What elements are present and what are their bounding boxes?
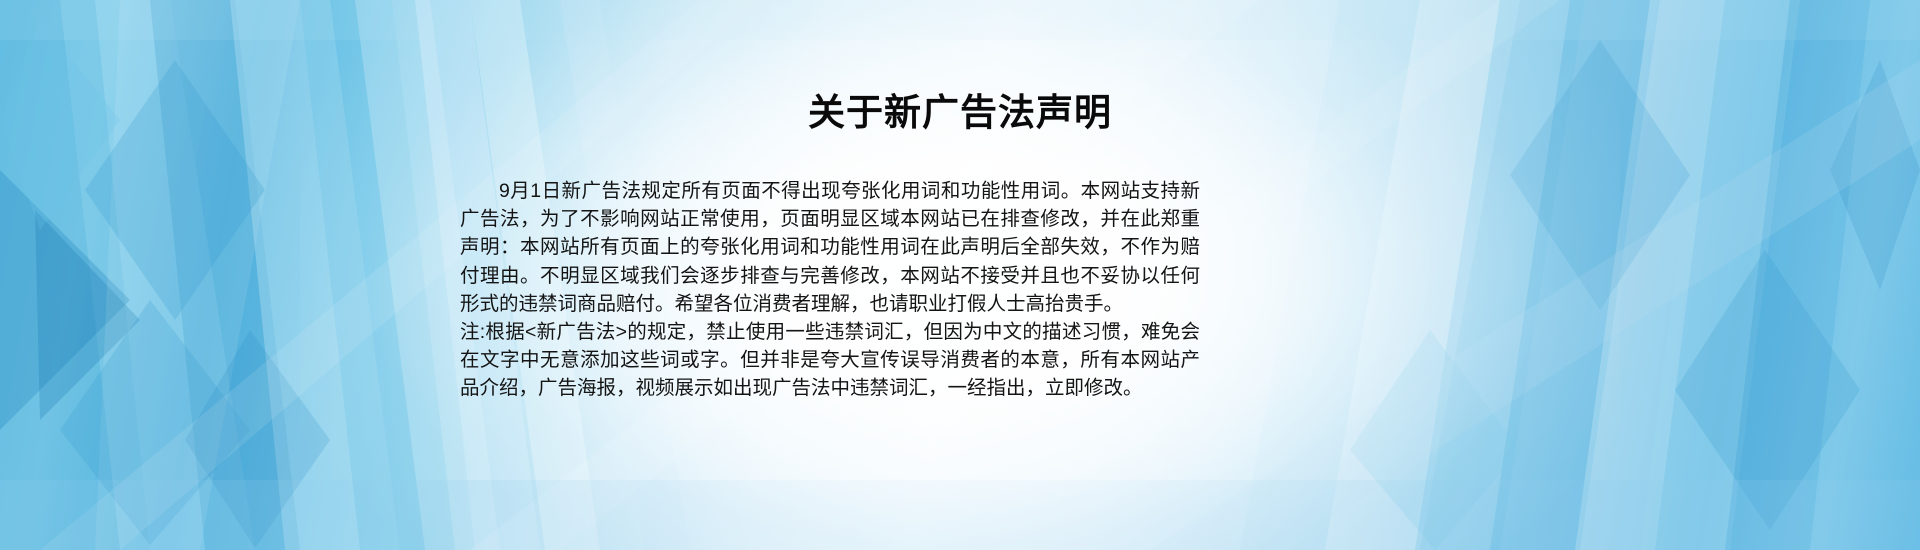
- advertising-law-statement-banner: 关于新广告法声明 9月1日新广告法规定所有页面不得出现夸张化用词和功能性用词。本…: [0, 0, 1920, 550]
- statement-content: 关于新广告法声明 9月1日新广告法规定所有页面不得出现夸张化用词和功能性用词。本…: [0, 0, 1920, 550]
- statement-paragraph-1: 9月1日新广告法规定所有页面不得出现夸张化用词和功能性用词。本网站支持新广告法，…: [460, 177, 1200, 318]
- statement-paragraph-2: 注:根据<新广告法>的规定，禁止使用一些违禁词汇，但因为中文的描述习惯，难免会在…: [460, 318, 1200, 403]
- page-title: 关于新广告法声明: [0, 88, 1920, 138]
- statement-body: 9月1日新广告法规定所有页面不得出现夸张化用词和功能性用词。本网站支持新广告法，…: [460, 177, 1200, 403]
